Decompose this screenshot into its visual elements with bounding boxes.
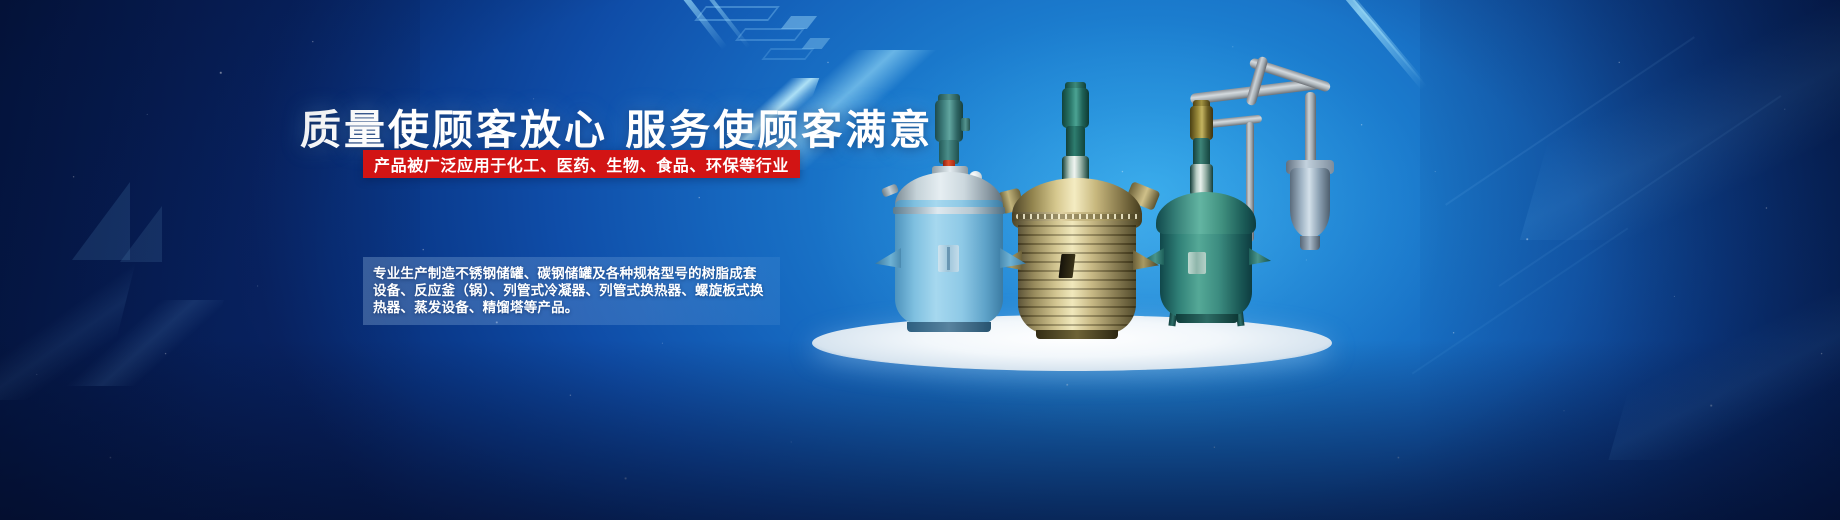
reactor-steel-sight-glass xyxy=(1059,254,1076,278)
tagline-banner: 产品被广泛应用于化工、医药、生物、食品、环保等行业 xyxy=(363,150,800,178)
right-vignette xyxy=(1420,0,1840,520)
reactor-green-body xyxy=(1160,222,1252,318)
reactor-steel-motor xyxy=(1062,88,1089,128)
light-streak-right-1 xyxy=(1293,0,1427,90)
solid-bar-2 xyxy=(802,38,831,49)
arrow-shape-left-2 xyxy=(120,206,162,262)
arrow-shape-right-1 xyxy=(1520,0,1840,240)
light-streak-2 xyxy=(680,0,751,49)
reactor-blue-lug-left xyxy=(875,248,901,268)
reactor-steel-rivets xyxy=(1016,214,1138,219)
reactor-green-lug-right xyxy=(1249,248,1271,265)
tagline-text: 产品被广泛应用于化工、医药、生物、食品、环保等行业 xyxy=(374,152,789,176)
pipe-elbow-upper xyxy=(1249,57,1332,92)
outline-bar-3 xyxy=(761,48,814,60)
pipe-vertical-right xyxy=(1305,92,1316,166)
reactor-green-nameplate xyxy=(1188,252,1206,274)
reactor-green-base xyxy=(1176,314,1238,323)
description-box: 专业生产制造不锈钢储罐、碳钢储罐及各种规格型号的树脂成套设备、反应釜（锅）、列管… xyxy=(363,257,780,325)
thin-line-right-2 xyxy=(1499,95,1782,287)
promotional-banner: 质量使顾客放心 服务使顾客满意 产品被广泛应用于化工、医药、生物、食品、环保等行… xyxy=(0,0,1840,520)
reactor-blue-nameplate xyxy=(938,245,959,272)
arrow-shape-right-2 xyxy=(1608,240,1840,460)
solid-bar-1 xyxy=(781,16,817,29)
condenser-outlet xyxy=(1300,236,1320,250)
light-streak-1 xyxy=(643,0,728,50)
reactor-green-dome xyxy=(1156,192,1256,234)
outline-bar-2 xyxy=(735,28,805,41)
reactor-steel-base xyxy=(1036,330,1118,339)
thin-line-right-3 xyxy=(1412,227,1629,374)
reactor-blue-motor-side xyxy=(961,118,970,131)
outline-bar-1 xyxy=(694,6,780,21)
reactor-steel-body xyxy=(1018,216,1136,334)
tube-condenser xyxy=(1290,168,1330,238)
thin-line-right-1 xyxy=(1445,36,1695,205)
arrow-shape-left-3 xyxy=(46,300,224,386)
reactor-green-motor xyxy=(1190,106,1213,140)
reactor-steel-shaft xyxy=(1066,126,1085,158)
light-streak-right-2 xyxy=(1325,0,1424,83)
reactor-blue-collar xyxy=(893,207,1005,214)
page-title: 质量使顾客放心 服务使顾客满意 xyxy=(300,96,933,156)
bottom-shadow xyxy=(0,340,1840,520)
arrow-shape-left-1 xyxy=(72,182,130,260)
arrow-shape-left-4 xyxy=(0,250,139,400)
reactor-blue-motor xyxy=(935,100,963,142)
description-text: 专业生产制造不锈钢储罐、碳钢储罐及各种规格型号的树脂成套设备、反应釜（锅）、列管… xyxy=(363,266,780,317)
reactor-blue-base xyxy=(907,322,991,332)
pipe-vertical-mid xyxy=(1245,56,1268,107)
left-vignette xyxy=(0,0,420,520)
